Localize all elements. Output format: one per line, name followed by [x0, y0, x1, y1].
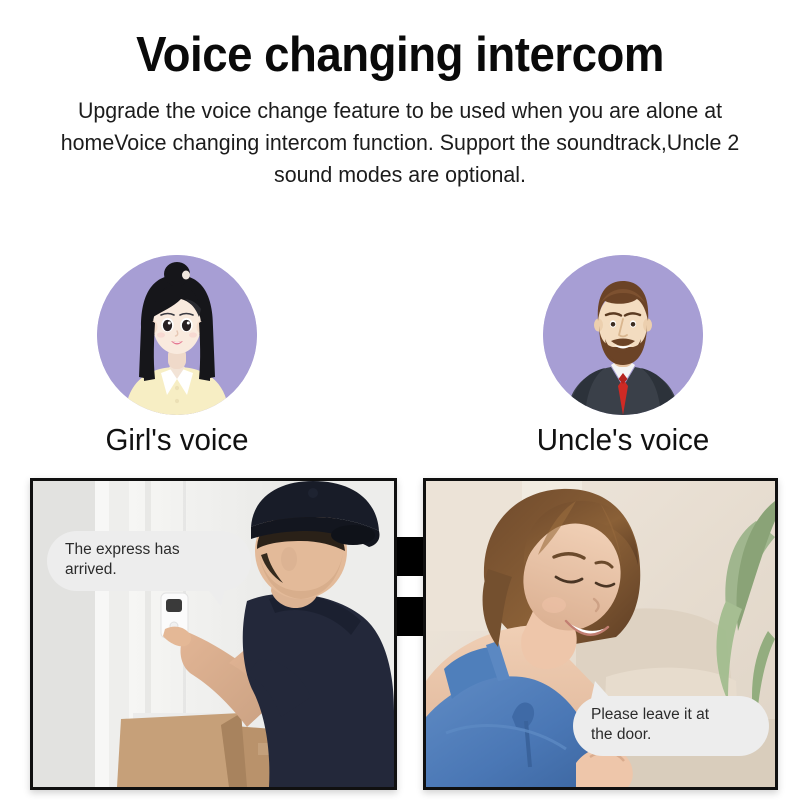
voice-modes-section: Girl's voice — [0, 255, 800, 465]
girl-avatar-icon — [97, 255, 257, 415]
delivery-man-scene — [33, 481, 394, 787]
girl-voice-label: Girl's voice — [68, 423, 287, 457]
page-subtitle: Upgrade the voice change feature to be u… — [49, 81, 752, 191]
delivery-man-photo: The express has arrived. — [30, 478, 397, 790]
woman-indoors-photo: Please leave it at the door. — [423, 478, 778, 790]
voice-mode-girl: Girl's voice — [62, 255, 292, 457]
voice-mode-uncle: Uncle's voice — [508, 255, 738, 457]
uncle-voice-label: Uncle's voice — [514, 423, 733, 457]
promo-page: Voice changing intercom Upgrade the voic… — [0, 0, 800, 800]
reply-speech-bubble: Please leave it at the door. — [573, 696, 769, 756]
scenario-photos: The express has arrived. — [0, 478, 800, 790]
delivery-speech-bubble: The express has arrived. — [47, 531, 251, 591]
header: Voice changing intercom Upgrade the voic… — [0, 0, 800, 191]
uncle-avatar-icon — [543, 255, 703, 415]
page-title: Voice changing intercom — [28, 0, 772, 81]
